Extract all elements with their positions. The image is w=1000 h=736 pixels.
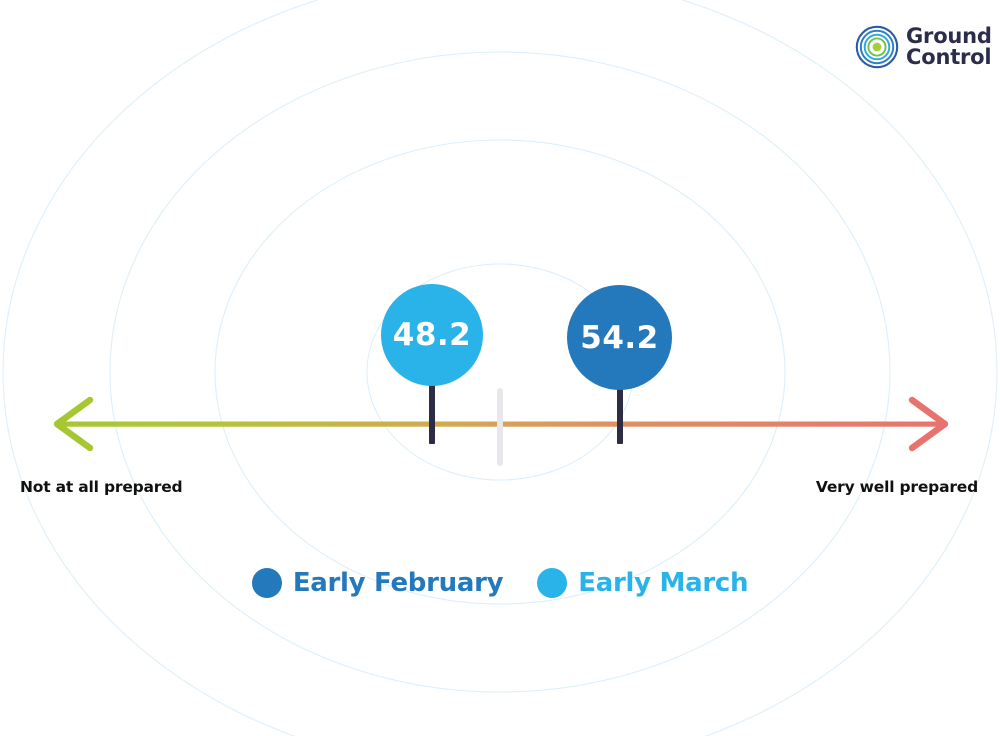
data-bubble-early-february[interactable]: 54.2 <box>567 285 672 390</box>
legend-dot-early-february <box>252 568 282 598</box>
concentric-target-icon <box>855 25 899 69</box>
legend-dot-early-march <box>537 568 567 598</box>
legend-item-early-february[interactable]: Early February <box>252 568 503 598</box>
chart-canvas: Ground Control 48.2 54.2 Not at all prep… <box>0 0 1000 736</box>
background-ring-4 <box>3 0 997 736</box>
background-rings <box>0 0 1000 736</box>
legend-label-early-march: Early March <box>578 568 748 598</box>
background-ring-2 <box>215 140 785 604</box>
brand-logo-text: Ground Control <box>906 26 992 67</box>
brand-logo-line1: Ground <box>906 26 992 47</box>
legend-label-early-february: Early February <box>293 568 503 598</box>
chart-legend: Early February Early March <box>0 568 1000 598</box>
scale-label-min: Not at all prepared <box>20 478 182 496</box>
brand-logo: Ground Control <box>855 25 992 69</box>
legend-item-early-march[interactable]: Early March <box>537 568 748 598</box>
axis-midpoint-tick <box>497 388 503 466</box>
data-bubble-early-march[interactable]: 48.2 <box>381 284 483 386</box>
scale-label-max: Very well prepared <box>816 478 978 496</box>
brand-logo-line2: Control <box>906 47 992 68</box>
